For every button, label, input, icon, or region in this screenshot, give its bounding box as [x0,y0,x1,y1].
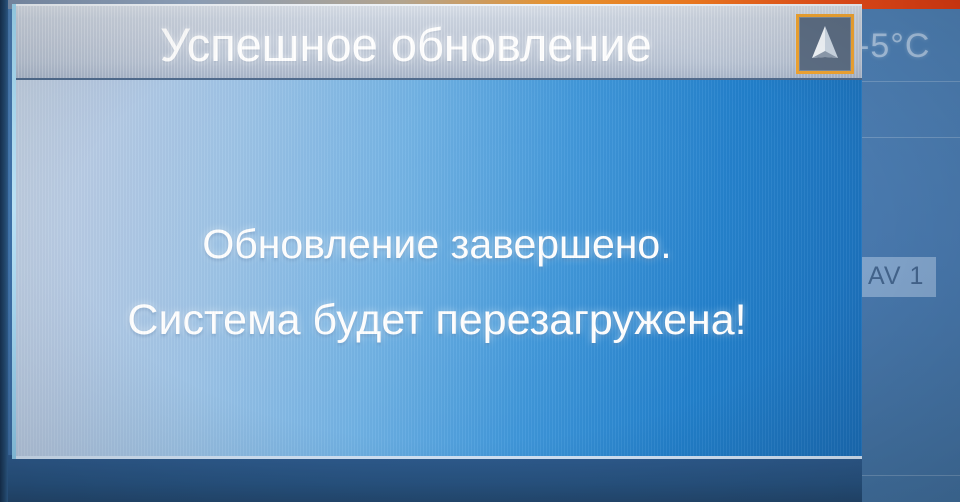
status-column: -5°C AV 1 [862,9,960,502]
source-badge-av1[interactable]: AV 1 [854,257,936,297]
status-divider [862,137,960,138]
outside-temperature: -5°C [858,27,930,66]
status-divider [862,81,960,82]
background-bottom-band [0,455,960,502]
status-divider [862,475,960,476]
dialog-left-edge-highlight [12,4,16,459]
head-unit-screen: -5°C AV 1 Успешное обновление [0,0,960,502]
left-bezel-edge [0,0,8,502]
message-line-1: Обновление завершено. [12,206,862,282]
dialog-title: Успешное обновление [160,10,652,80]
message-line-2: Система будет перезагружена! [12,282,862,358]
navigation-arrow-icon[interactable] [796,14,854,74]
dialog-titlebar: Успешное обновление [12,4,862,80]
dialog-body: Обновление завершено. Система будет пере… [12,80,862,459]
dialog-message: Обновление завершено. Система будет пере… [12,206,862,358]
update-complete-dialog: Успешное обновление Обновление завершено… [12,4,862,459]
